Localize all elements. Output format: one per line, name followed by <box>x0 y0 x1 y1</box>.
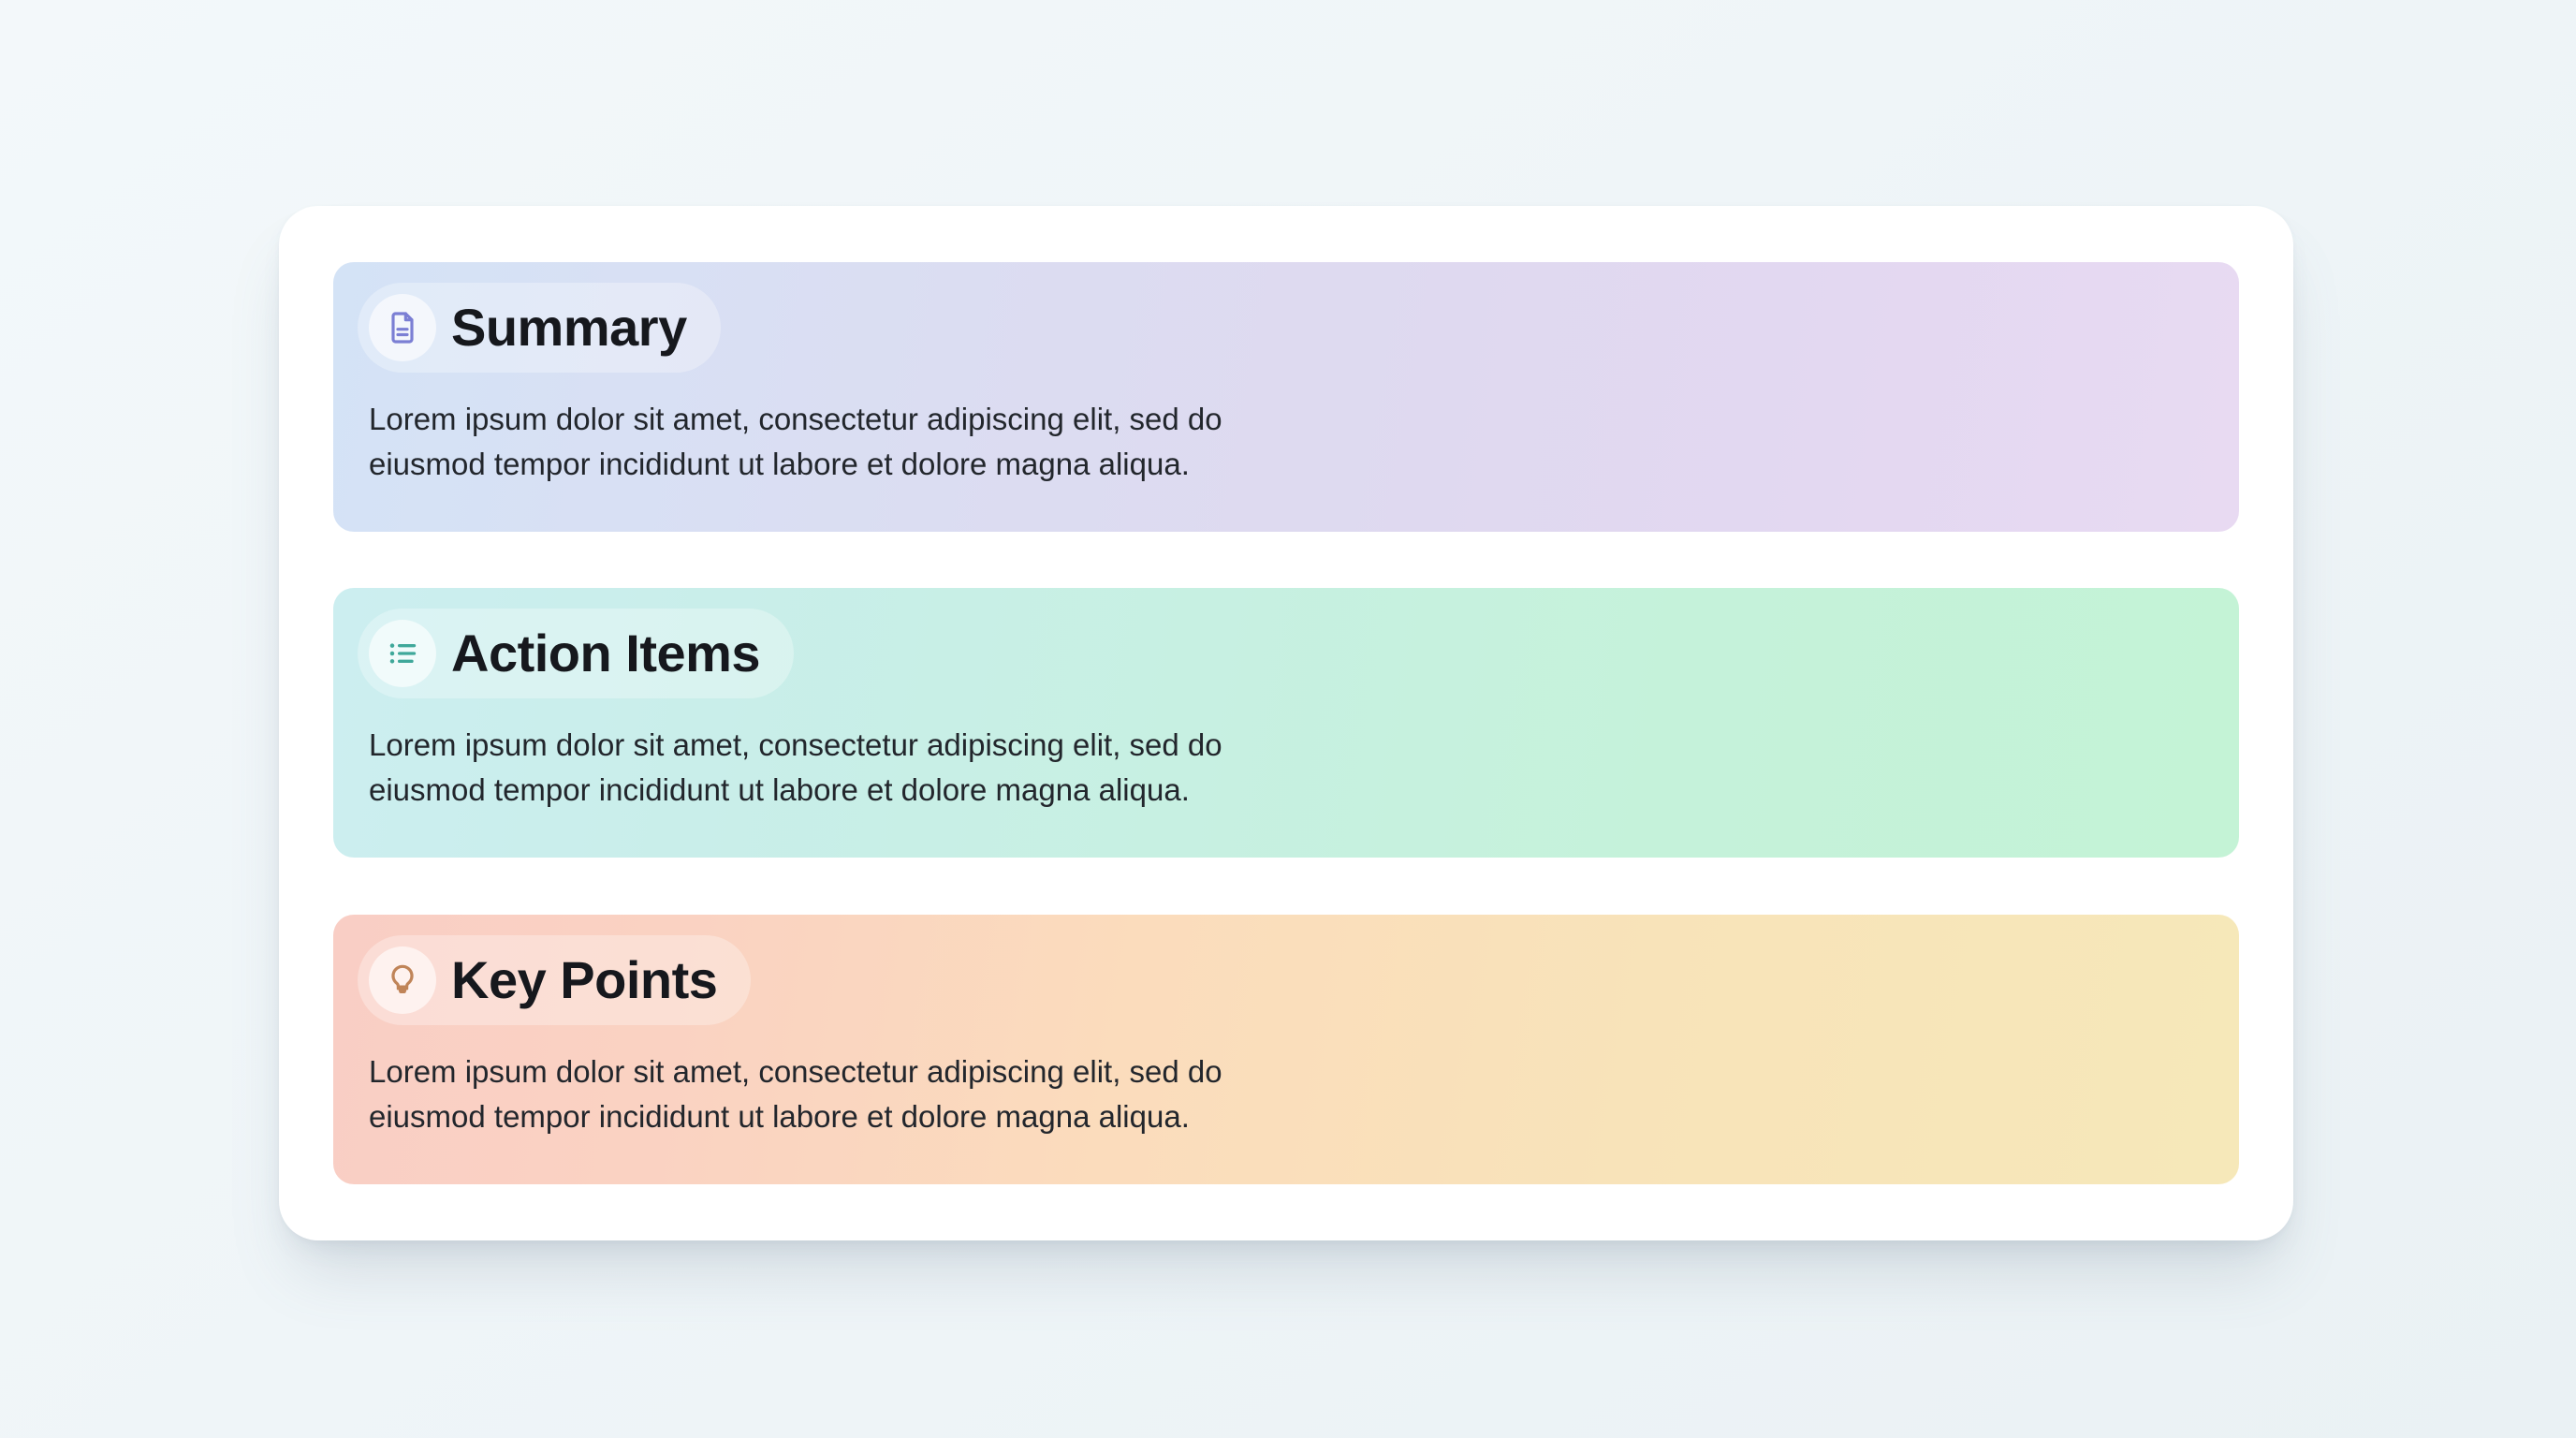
section-body-summary: Lorem ipsum dolor sit amet, consectetur … <box>369 397 1417 487</box>
document-icon <box>369 294 436 361</box>
section-body-key-points: Lorem ipsum dolor sit amet, consectetur … <box>369 1049 1417 1139</box>
bulleted-list-icon <box>369 620 436 687</box>
body-line: Lorem ipsum dolor sit amet, consectetur … <box>369 723 1417 768</box>
section-key-points: Key Points Lorem ipsum dolor sit amet, c… <box>333 915 2239 1184</box>
lightbulb-icon <box>369 946 436 1014</box>
section-action-items: Action Items Lorem ipsum dolor sit amet,… <box>333 588 2239 858</box>
body-line: Lorem ipsum dolor sit amet, consectetur … <box>369 397 1417 442</box>
section-header-action-items: Action Items <box>358 609 794 698</box>
section-header-summary: Summary <box>358 283 721 373</box>
body-line: Lorem ipsum dolor sit amet, consectetur … <box>369 1049 1417 1094</box>
section-body-action-items: Lorem ipsum dolor sit amet, consectetur … <box>369 723 1417 813</box>
section-title-action-items: Action Items <box>451 627 762 680</box>
section-title-key-points: Key Points <box>451 954 719 1006</box>
content-card: Summary Lorem ipsum dolor sit amet, cons… <box>279 206 2293 1240</box>
body-line: eiusmod tempor incididunt ut labore et d… <box>369 442 1417 487</box>
section-title-summary: Summary <box>451 301 689 354</box>
body-line: eiusmod tempor incididunt ut labore et d… <box>369 1094 1417 1139</box>
body-line: eiusmod tempor incididunt ut labore et d… <box>369 768 1417 813</box>
section-summary: Summary Lorem ipsum dolor sit amet, cons… <box>333 262 2239 532</box>
section-header-key-points: Key Points <box>358 935 751 1025</box>
